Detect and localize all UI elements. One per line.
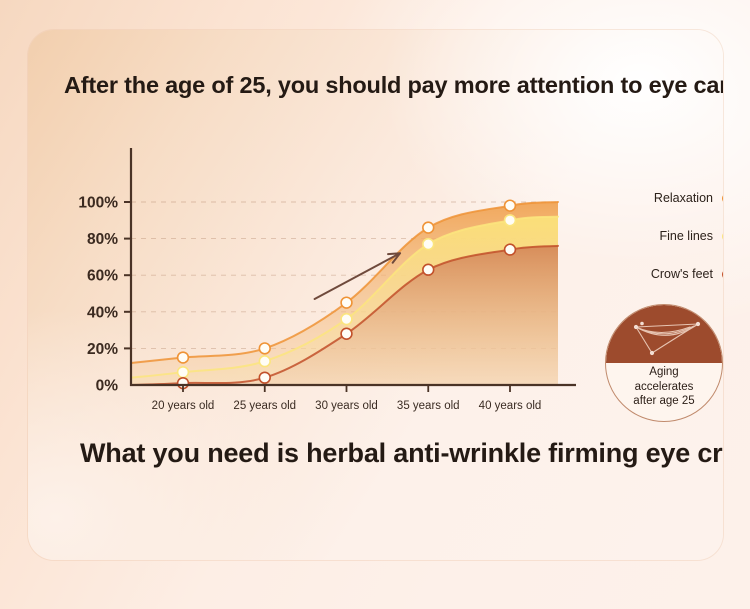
x-axis-tick-label: 25 years old	[233, 400, 296, 412]
legend-label: Relaxation	[654, 191, 713, 205]
badge-caption-line1: Aging	[606, 365, 722, 380]
y-axis-tick-label: 80%	[87, 231, 118, 248]
crow-feet-illustration	[606, 305, 722, 363]
badge-caption: Aging accelerates after age 25	[606, 363, 722, 409]
poster-background: After the age of 25, you should pay more…	[0, 0, 750, 609]
x-axis-tick-label: 40 years old	[479, 400, 542, 412]
y-axis-tick-label: 0%	[96, 378, 119, 395]
chart-canvas: 0%20%40%60%80%100%20 years old25 years o…	[46, 120, 586, 430]
badge-caption-line3: after age 25	[606, 394, 722, 409]
aging-badge: Aging accelerates after age 25	[605, 304, 723, 422]
x-axis-tick-label: 30 years old	[315, 400, 378, 412]
y-axis-tick-label: 60%	[87, 268, 118, 285]
badge-caption-line2: accelerates	[606, 380, 722, 395]
y-axis-tick-label: 40%	[87, 304, 118, 321]
legend-label: Fine lines	[660, 229, 714, 243]
call-to-action-text: What you need is herbal anti-wrinkle fir…	[80, 438, 723, 469]
chart-legend: Relaxation Fine lines Crow's feet	[626, 188, 723, 302]
legend-item-fine-lines: Fine lines	[626, 226, 723, 246]
info-card: After the age of 25, you should pay more…	[28, 30, 723, 560]
x-axis-tick-label: 35 years old	[397, 400, 460, 412]
wrinkle-progression-chart: 0%20%40%60%80%100%20 years old25 years o…	[46, 120, 586, 430]
legend-label: Crow's feet	[651, 267, 713, 281]
legend-item-crows-feet: Crow's feet	[626, 264, 723, 284]
crow-feet-icon	[606, 305, 722, 363]
legend-swatch	[722, 231, 723, 242]
y-axis-tick-label: 100%	[78, 195, 118, 212]
page-title: After the age of 25, you should pay more…	[64, 72, 723, 99]
y-axis-tick-label: 20%	[87, 341, 118, 358]
x-axis-tick-label: 20 years old	[152, 400, 215, 412]
legend-swatch	[722, 269, 723, 280]
legend-item-relaxation: Relaxation	[626, 188, 723, 208]
legend-swatch	[722, 193, 723, 204]
